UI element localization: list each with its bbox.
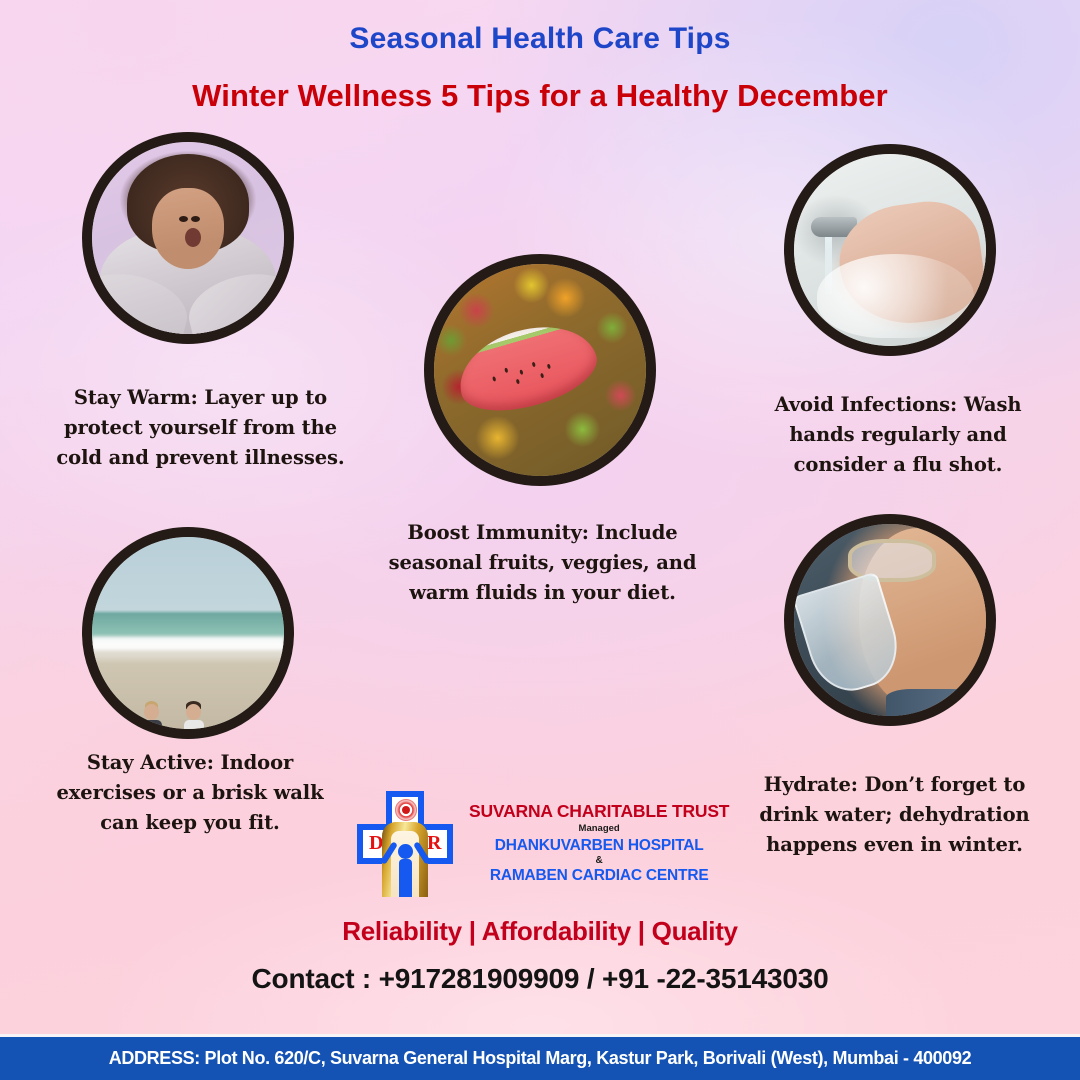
tip-image-stay-active <box>82 527 294 739</box>
header: Seasonal Health Care Tips Winter Wellnes… <box>0 22 1080 114</box>
page-subtitle: Winter Wellness 5 Tips for a Healthy Dec… <box>0 78 1080 114</box>
brand-logo-block: D R SUVARNA CHARITABLE TRUST Managed DHA… <box>355 788 745 898</box>
tip-caption-avoid-infections: Avoid Infections: Wash hands regularly a… <box>748 390 1048 481</box>
contact-line[interactable]: Contact : +917281909909 / +91 -22-351430… <box>0 963 1080 995</box>
hospital-name: DHANKUVARBEN HOSPITAL <box>469 837 729 854</box>
tip-image-hydrate <box>784 514 996 726</box>
brand-text: SUVARNA CHARITABLE TRUST Managed DHANKUV… <box>469 802 729 884</box>
page-title: Seasonal Health Care Tips <box>0 22 1080 56</box>
tip-caption-hydrate: Hydrate: Don’t forget to drink water; de… <box>742 770 1047 861</box>
tip-image-avoid-infections <box>784 144 996 356</box>
tip-image-stay-warm <box>82 132 294 344</box>
sun-emblem-icon <box>395 799 417 821</box>
cardiac-centre-name: RAMABEN CARDIAC CENTRE <box>469 867 729 884</box>
tagline: Reliability | Affordability | Quality <box>0 916 1080 947</box>
managed-label: Managed <box>469 824 729 834</box>
poster-canvas: Seasonal Health Care Tips Winter Wellnes… <box>0 0 1080 1080</box>
logo-letter-r: R <box>427 833 441 853</box>
tip-caption-boost-immunity: Boost Immunity: Include seasonal fruits,… <box>385 518 700 609</box>
ampersand-separator: & <box>469 855 729 866</box>
address-bar: ADDRESS: Plot No. 620/C, Suvarna General… <box>0 1034 1080 1080</box>
hospital-cross-logo-icon: D R <box>355 789 455 897</box>
tip-caption-stay-active: Stay Active: Indoor exercises or a brisk… <box>45 748 335 839</box>
trust-name: SUVARNA CHARITABLE TRUST <box>469 802 729 821</box>
address-text: ADDRESS: Plot No. 620/C, Suvarna General… <box>109 1048 972 1069</box>
tip-caption-stay-warm: Stay Warm: Layer up to protect yourself … <box>48 383 353 474</box>
tip-image-boost-immunity <box>424 254 656 486</box>
